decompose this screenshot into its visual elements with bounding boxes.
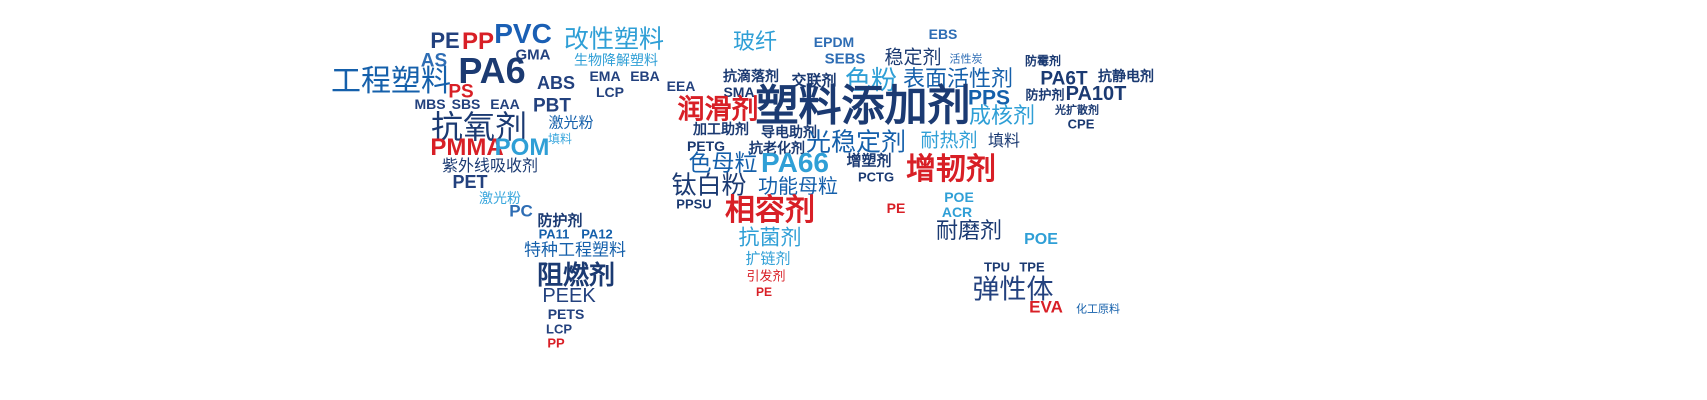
cloud-word[interactable]: EBA — [630, 69, 660, 83]
cloud-word[interactable]: CPE — [1068, 118, 1095, 131]
cloud-word[interactable]: PA12 — [581, 228, 613, 241]
cloud-word[interactable]: 活性炭 — [950, 55, 983, 66]
cloud-word[interactable]: 抗菌剂 — [739, 228, 802, 249]
cloud-word[interactable]: POM — [495, 136, 550, 160]
cloud-word[interactable]: 加工助剂 — [693, 122, 749, 136]
cloud-word[interactable]: 抗静电剂 — [1098, 69, 1154, 83]
cloud-word[interactable]: ACR — [942, 205, 972, 219]
cloud-word[interactable]: 防护剂 — [1025, 89, 1064, 102]
cloud-word[interactable]: 相容剂 — [725, 196, 815, 226]
cloud-word[interactable]: 增韧剂 — [906, 155, 996, 185]
cloud-word[interactable]: TPE — [1019, 261, 1044, 274]
cloud-word[interactable]: EMA — [589, 69, 620, 83]
cloud-word[interactable]: 耐热剂 — [920, 132, 977, 151]
cloud-word[interactable]: 改性塑料 — [564, 28, 664, 53]
cloud-word[interactable]: PA66 — [761, 149, 829, 177]
cloud-word[interactable]: 光扩散剂 — [1055, 106, 1099, 117]
cloud-word[interactable]: PE — [887, 201, 906, 215]
cloud-word[interactable]: PET — [452, 173, 487, 191]
cloud-word[interactable]: 特种工程塑料 — [524, 242, 626, 259]
cloud-word[interactable]: PMMA — [430, 136, 503, 160]
word-cloud-canvas: PEPPPVCGMAASPA6工程塑料PSMBSSBSEAA抗氧剂PMMAPOM… — [0, 0, 1707, 400]
cloud-word[interactable]: 化工原料 — [1076, 305, 1120, 316]
cloud-word[interactable]: PCTG — [858, 171, 894, 184]
cloud-word[interactable]: 润滑剂 — [678, 97, 759, 124]
cloud-word[interactable]: LCP — [546, 323, 572, 336]
cloud-word[interactable]: 工程塑料 — [331, 67, 451, 97]
cloud-word[interactable]: PA11 — [539, 228, 570, 241]
cloud-word[interactable]: EVA — [1029, 299, 1063, 316]
cloud-word[interactable]: 扩链剂 — [745, 252, 790, 267]
cloud-word[interactable]: PE — [756, 286, 772, 298]
cloud-word[interactable]: 塑料添加剂 — [756, 86, 971, 129]
cloud-word[interactable]: POE — [944, 190, 974, 204]
cloud-word[interactable]: 增塑剂 — [846, 154, 891, 169]
cloud-word[interactable]: 填料 — [988, 134, 1020, 150]
cloud-word[interactable]: POE — [1024, 232, 1058, 248]
cloud-word[interactable]: EEA — [667, 79, 696, 93]
cloud-word[interactable]: 玻纤 — [733, 31, 777, 53]
cloud-word[interactable]: PA10T — [1066, 84, 1127, 104]
cloud-word[interactable]: 激光粉 — [548, 116, 593, 131]
cloud-word[interactable]: PC — [509, 203, 533, 220]
cloud-word[interactable]: PPSU — [676, 198, 711, 211]
cloud-word[interactable]: EPDM — [814, 35, 854, 49]
cloud-word[interactable]: PVC — [494, 20, 552, 48]
cloud-word[interactable]: PEEK — [542, 286, 595, 306]
cloud-word[interactable]: 防霉剂 — [1025, 55, 1061, 67]
cloud-word[interactable]: EBS — [929, 27, 958, 41]
cloud-word[interactable]: PBT — [533, 97, 571, 116]
cloud-word[interactable]: TPU — [984, 261, 1010, 274]
cloud-word[interactable]: 生物降解塑料 — [574, 53, 658, 67]
cloud-word[interactable]: 填料 — [548, 133, 572, 145]
cloud-word[interactable]: 耐磨剂 — [936, 220, 1002, 242]
cloud-word[interactable]: ABS — [537, 74, 575, 92]
cloud-word[interactable]: 成核剂 — [969, 105, 1035, 127]
cloud-word[interactable]: PETS — [548, 307, 585, 321]
cloud-word[interactable]: 抗滴落剂 — [723, 69, 779, 83]
cloud-word[interactable]: 引发剂 — [746, 270, 785, 283]
cloud-word[interactable]: PE — [430, 30, 459, 52]
cloud-word[interactable]: PP — [547, 337, 564, 350]
cloud-word[interactable]: LCP — [596, 85, 624, 99]
